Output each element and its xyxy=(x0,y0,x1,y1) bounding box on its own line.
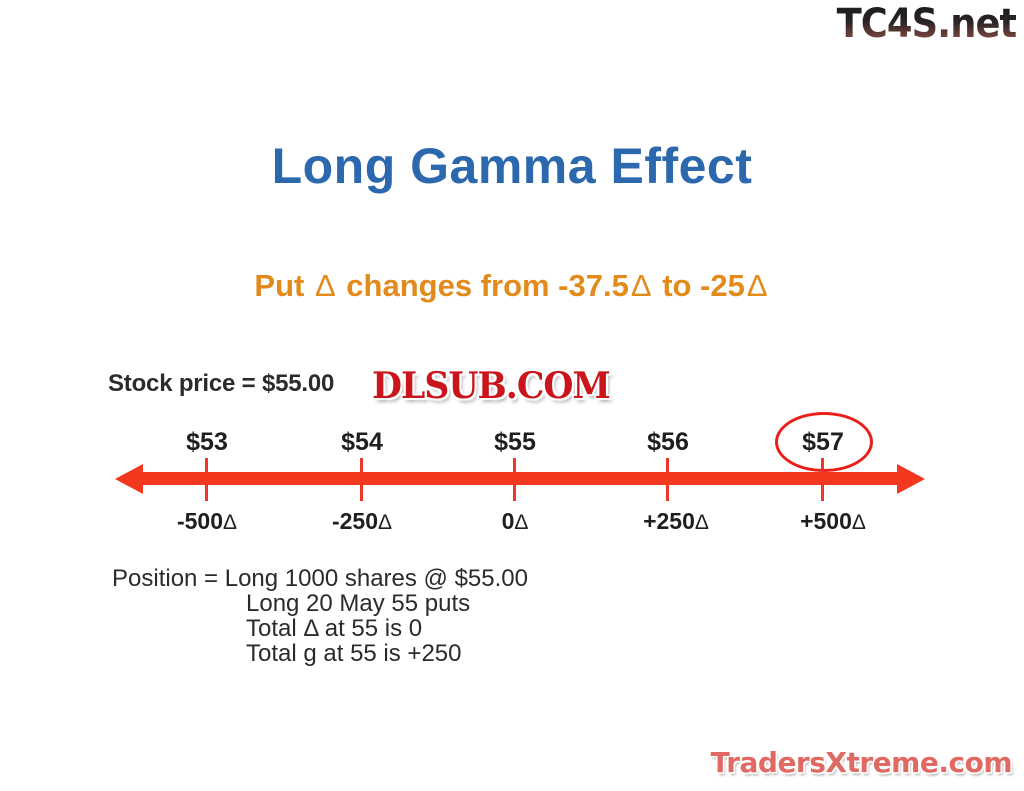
axis-arrow-left-icon xyxy=(115,464,143,494)
delta-value: + xyxy=(800,508,813,534)
price-label: $53 xyxy=(186,428,228,457)
delta-value: 500 xyxy=(814,508,852,534)
delta-label: +250Δ xyxy=(643,508,709,535)
highlight-ellipse xyxy=(775,412,873,472)
delta-symbol-icon: Δ xyxy=(852,511,866,534)
delta-symbol-icon: Δ xyxy=(695,511,709,534)
axis-arrow-right-icon xyxy=(897,464,925,494)
price-label: $55 xyxy=(494,428,536,457)
delta-symbol-icon: Δ xyxy=(378,511,392,534)
position-line: Total g at 55 is +250 xyxy=(112,641,528,666)
position-line: Long 20 May 55 puts xyxy=(112,591,528,616)
delta-value: 0 xyxy=(502,508,515,534)
stock-price-label: Stock price = $55.00 xyxy=(108,370,334,398)
position-line: Position = Long 1000 shares @ $55.00 xyxy=(112,566,528,591)
delta-value: -250 xyxy=(332,508,378,534)
delta-label: +500Δ xyxy=(800,508,866,535)
price-label: $56 xyxy=(647,428,689,457)
delta-symbol-icon: Δ xyxy=(223,511,237,534)
delta-label: -250Δ xyxy=(332,508,392,535)
position-description: Position = Long 1000 shares @ $55.00 Lon… xyxy=(112,566,528,666)
dlsub-watermark: DLSUB.COM xyxy=(372,368,610,404)
position-line: Total Δ at 55 is 0 xyxy=(112,616,528,641)
delta-label: -500Δ xyxy=(177,508,237,535)
delta-value: + xyxy=(643,508,656,534)
delta-label: 0Δ xyxy=(502,508,529,535)
slide-canvas: TC4S.net Long Gamma Effect Put Δ changes… xyxy=(0,0,1024,791)
delta-value: 250 xyxy=(657,508,695,534)
number-line-diagram: Stock price = $55.00 DLSUB.COM $53 $54 $… xyxy=(0,0,1024,791)
delta-value: -500 xyxy=(177,508,223,534)
price-label: $54 xyxy=(341,428,383,457)
delta-symbol-icon: Δ xyxy=(514,511,528,534)
axis-line xyxy=(140,472,900,485)
tradersxtreme-logo: TradersXtreme.com xyxy=(711,749,1012,777)
